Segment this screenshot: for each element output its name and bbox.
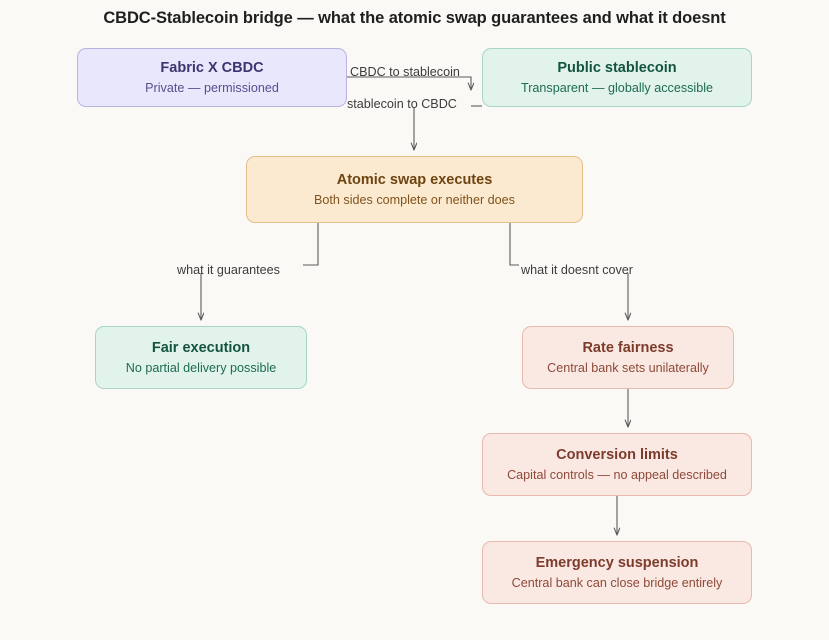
node-subtitle: Capital controls — no appeal described (507, 468, 727, 484)
node-title: Emergency suspension (536, 554, 699, 572)
node-title: Public stablecoin (557, 59, 676, 77)
node-fabric-x-cbdc[interactable]: Fabric X CBDC Private — permissioned (77, 48, 347, 107)
node-title: Fabric X CBDC (160, 59, 263, 77)
node-subtitle: Private — permissioned (145, 81, 279, 97)
node-subtitle: Transparent — globally accessible (521, 81, 713, 97)
node-subtitle: Central bank sets unilaterally (547, 361, 709, 377)
node-title: Fair execution (152, 339, 250, 357)
page-title: CBDC-Stablecoin bridge — what the atomic… (0, 9, 829, 28)
node-title: Rate fairness (582, 339, 673, 357)
node-subtitle: Both sides complete or neither does (314, 193, 515, 209)
node-title: Atomic swap executes (337, 171, 493, 189)
edge-label-stablecoin-to-cbdc: stablecoin to CBDC (347, 98, 457, 111)
edge-label-cbdc-to-stablecoin: CBDC to stablecoin (350, 66, 460, 79)
node-emergency-suspension[interactable]: Emergency suspension Central bank can cl… (482, 541, 752, 604)
node-title: Conversion limits (556, 446, 678, 464)
node-subtitle: Central bank can close bridge entirely (512, 576, 723, 592)
node-public-stablecoin[interactable]: Public stablecoin Transparent — globally… (482, 48, 752, 107)
node-fair-execution[interactable]: Fair execution No partial delivery possi… (95, 326, 307, 389)
diagram-canvas: CBDC-Stablecoin bridge — what the atomic… (0, 0, 829, 640)
node-conversion-limits[interactable]: Conversion limits Capital controls — no … (482, 433, 752, 496)
node-subtitle: No partial delivery possible (126, 361, 277, 377)
edge-label-what-it-guarantees: what it guarantees (177, 264, 280, 277)
node-atomic-swap[interactable]: Atomic swap executes Both sides complete… (246, 156, 583, 223)
node-rate-fairness[interactable]: Rate fairness Central bank sets unilater… (522, 326, 734, 389)
edge-label-what-it-doesnt-cover: what it doesnt cover (521, 264, 633, 277)
